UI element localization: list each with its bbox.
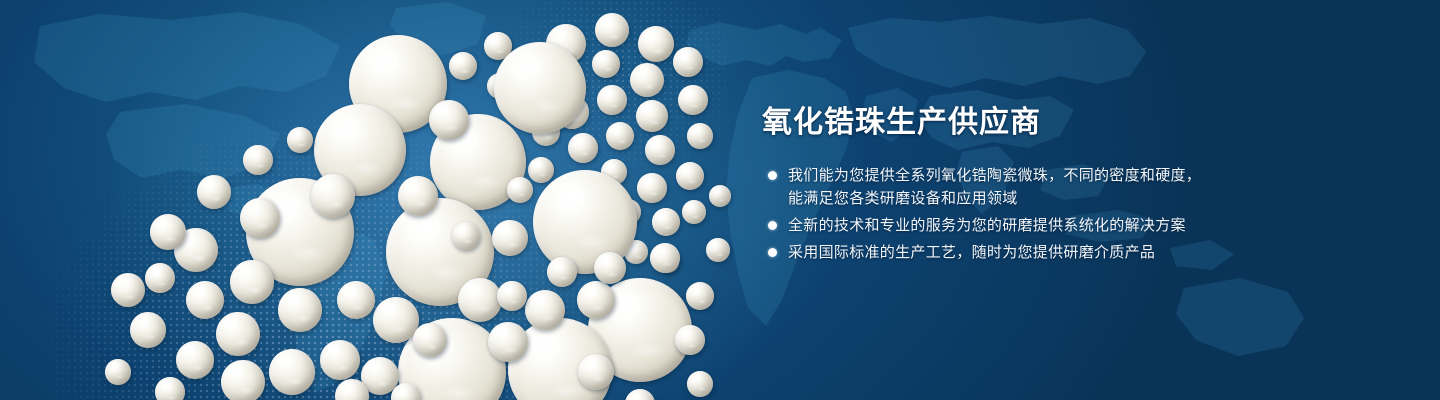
zirconia-bead bbox=[111, 273, 145, 307]
zirconia-bead bbox=[673, 47, 703, 77]
zirconia-bead bbox=[197, 175, 231, 209]
zirconia-bead bbox=[497, 281, 527, 311]
zirconia-bead bbox=[625, 389, 655, 400]
list-item-label-wrap: 能满足您各类研磨设备和应用领域 bbox=[788, 187, 1382, 210]
zirconia-bead bbox=[706, 238, 730, 262]
zirconia-bead bbox=[287, 127, 313, 153]
zirconia-bead bbox=[597, 85, 627, 115]
zirconia-bead bbox=[592, 50, 620, 78]
zirconia-bead bbox=[686, 282, 714, 310]
zirconia-bead bbox=[176, 341, 214, 379]
list-item-label: 采用国际标准的生产工艺，随时为您提供研磨介质产品 bbox=[788, 241, 1382, 264]
zirconia-bead bbox=[269, 349, 315, 395]
zirconia-bead bbox=[675, 325, 705, 355]
zirconia-bead bbox=[492, 220, 528, 256]
bullet-dot-icon bbox=[768, 171, 777, 180]
zirconia-bead bbox=[606, 122, 634, 150]
zirconia-bead bbox=[636, 100, 668, 132]
zirconia-bead bbox=[494, 42, 586, 134]
zirconia-bead bbox=[678, 85, 708, 115]
list-item: 我们能为您提供全系列氧化锆陶瓷微珠，不同的密度和硬度， 能满足您各类研磨设备和应… bbox=[762, 164, 1382, 210]
zirconia-bead bbox=[630, 63, 664, 97]
zirconia-bead bbox=[221, 360, 265, 400]
zirconia-bead bbox=[150, 214, 186, 250]
zirconia-bead bbox=[105, 359, 131, 385]
zirconia-bead bbox=[243, 145, 273, 175]
zirconia-bead bbox=[452, 222, 480, 250]
zirconia-bead bbox=[488, 322, 528, 362]
zirconia-bead bbox=[637, 173, 667, 203]
list-item-label: 全新的技术和专业的服务为您的研磨提供系统化的解决方案 bbox=[788, 214, 1382, 237]
zirconia-bead bbox=[230, 260, 274, 304]
bullet-dot-icon bbox=[768, 221, 777, 230]
hero-banner: 氧化锆珠生产供应商 我们能为您提供全系列氧化锆陶瓷微珠，不同的密度和硬度， 能满… bbox=[0, 0, 1440, 400]
zirconia-bead bbox=[429, 100, 469, 140]
zirconia-bead bbox=[578, 354, 614, 390]
zirconia-bead bbox=[528, 157, 554, 183]
zirconia-bead bbox=[507, 177, 533, 203]
zirconia-bead bbox=[638, 26, 674, 62]
zirconia-bead bbox=[594, 252, 626, 284]
zirconia-bead bbox=[547, 257, 577, 287]
zirconia-bead bbox=[320, 340, 360, 380]
zirconia-bead bbox=[645, 135, 675, 165]
zirconia-bead bbox=[595, 13, 629, 47]
zirconia-bead bbox=[311, 174, 355, 218]
zirconia-bead bbox=[413, 323, 447, 357]
zirconia-bead bbox=[650, 243, 680, 273]
zirconia-bead bbox=[577, 281, 615, 319]
bullet-dot-icon bbox=[768, 248, 777, 257]
zirconia-bead bbox=[130, 312, 166, 348]
zirconia-bead bbox=[682, 200, 706, 224]
zirconia-bead bbox=[458, 278, 502, 322]
banner-feature-list: 我们能为您提供全系列氧化锆陶瓷微珠，不同的密度和硬度， 能满足您各类研磨设备和应… bbox=[762, 164, 1382, 264]
list-item: 全新的技术和专业的服务为您的研磨提供系统化的解决方案 bbox=[762, 214, 1382, 237]
zirconia-bead bbox=[652, 208, 680, 236]
zirconia-bead bbox=[186, 281, 224, 319]
zirconia-bead bbox=[676, 162, 704, 190]
zirconia-bead bbox=[155, 377, 185, 400]
zirconia-bead bbox=[687, 371, 713, 397]
zirconia-beads-photo bbox=[0, 0, 780, 400]
zirconia-bead bbox=[337, 281, 375, 319]
zirconia-bead bbox=[709, 185, 731, 207]
zirconia-bead bbox=[240, 198, 280, 238]
zirconia-bead bbox=[449, 52, 477, 80]
zirconia-bead bbox=[373, 297, 419, 343]
list-item: 采用国际标准的生产工艺，随时为您提供研磨介质产品 bbox=[762, 241, 1382, 264]
zirconia-bead bbox=[216, 312, 260, 356]
banner-text-block: 氧化锆珠生产供应商 我们能为您提供全系列氧化锆陶瓷微珠，不同的密度和硬度， 能满… bbox=[762, 104, 1382, 268]
zirconia-bead bbox=[687, 123, 713, 149]
list-item-label: 我们能为您提供全系列氧化锆陶瓷微珠，不同的密度和硬度， bbox=[788, 164, 1382, 187]
zirconia-bead bbox=[525, 290, 565, 330]
zirconia-bead bbox=[398, 176, 438, 216]
zirconia-bead bbox=[278, 288, 322, 332]
zirconia-bead bbox=[145, 263, 175, 293]
banner-title: 氧化锆珠生产供应商 bbox=[762, 104, 1382, 142]
zirconia-bead bbox=[568, 133, 598, 163]
